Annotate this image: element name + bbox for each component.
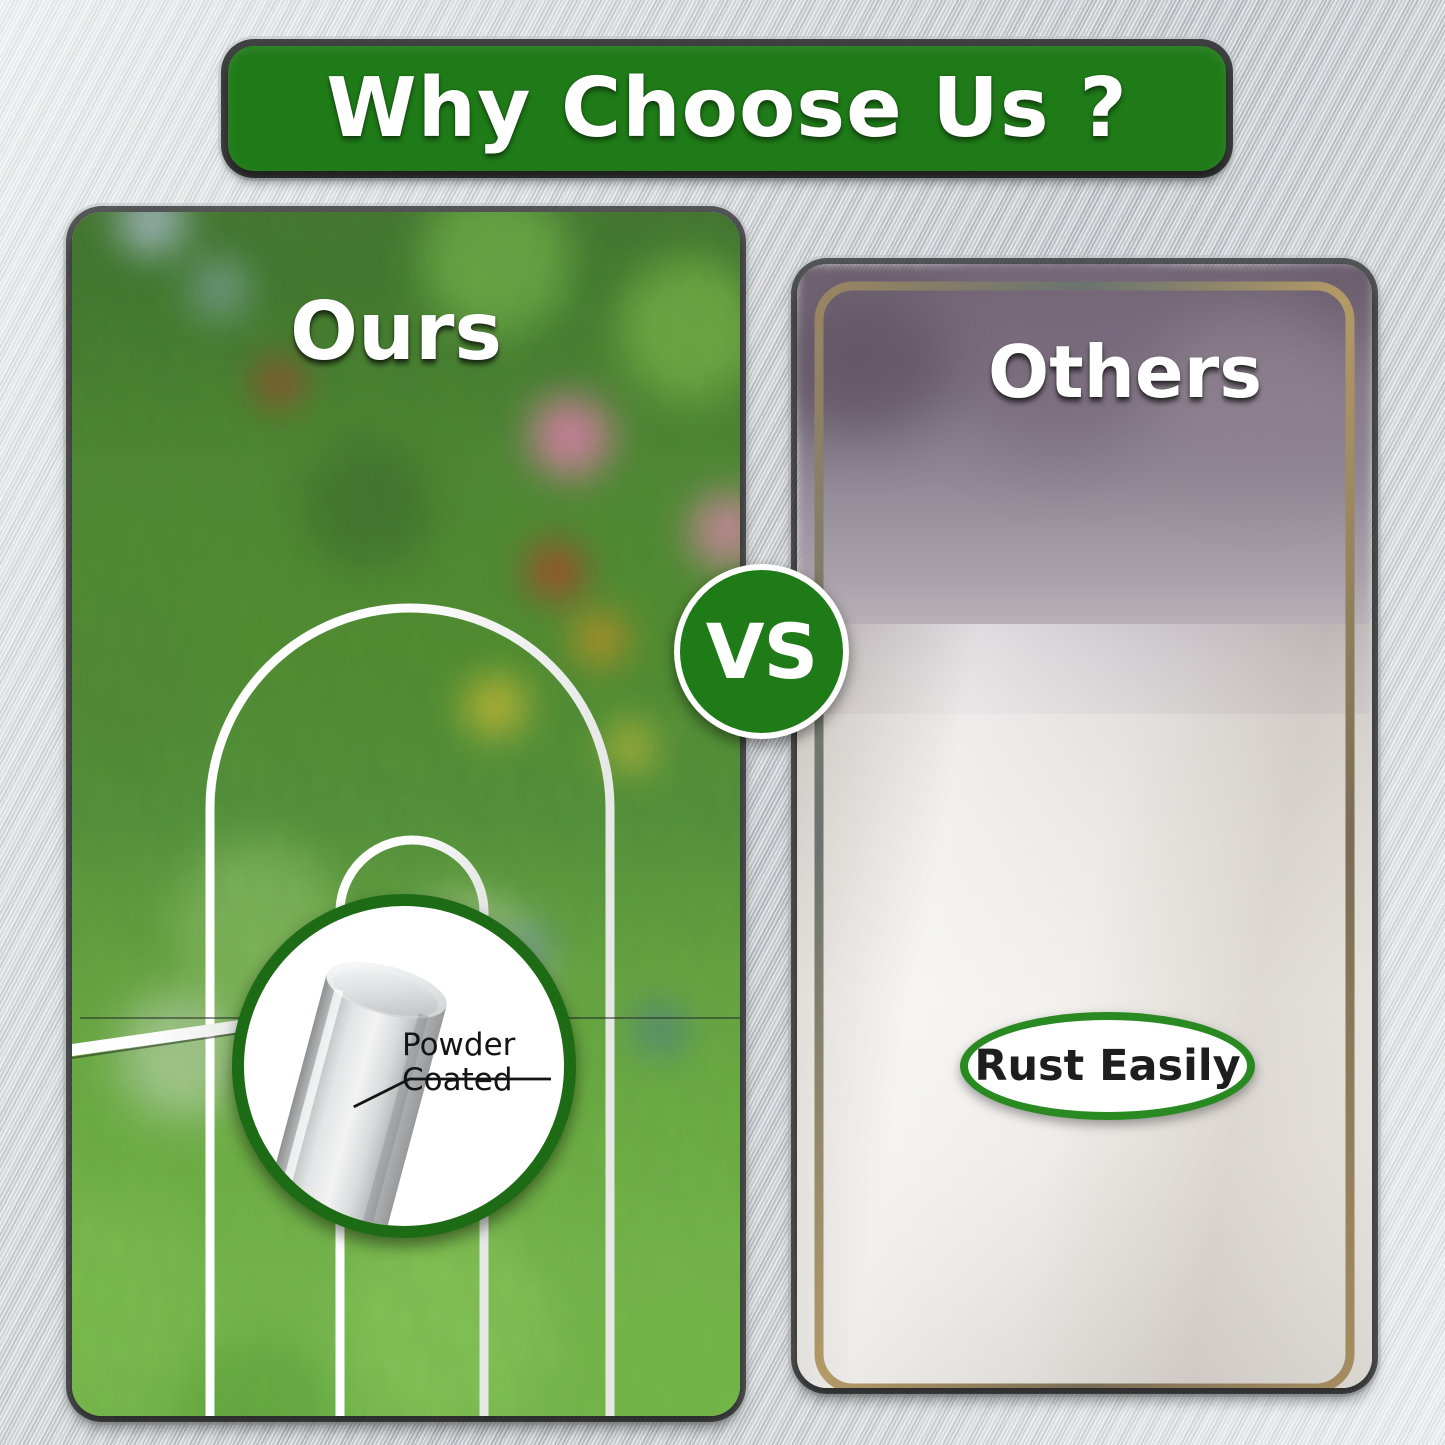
page-title: Why Choose Us ? <box>326 68 1128 150</box>
vs-label: VS <box>706 614 818 690</box>
powder-coated-line-1: Powder <box>402 1028 552 1063</box>
header-banner-plate: Why Choose Us ? <box>228 46 1226 171</box>
panel-heading-ours: Ours <box>290 292 502 372</box>
header-banner: Why Choose Us ? <box>228 46 1226 171</box>
infographic-stage: Why Choose Us ? <box>0 0 1445 1445</box>
vs-badge: VS <box>674 564 849 739</box>
powder-coated-label: Powder Coated <box>402 1028 552 1097</box>
powder-coated-line-2: Coated <box>402 1063 552 1098</box>
rusty-wire-grid-graphic <box>797 264 1372 1388</box>
panel-others <box>797 264 1372 1388</box>
panel-heading-others: Others <box>988 336 1262 408</box>
powder-coated-callout: Powder Coated <box>232 894 576 1238</box>
rust-easily-badge: Rust Easily <box>960 1012 1255 1120</box>
rust-easily-label: Rust Easily <box>974 1045 1240 1088</box>
